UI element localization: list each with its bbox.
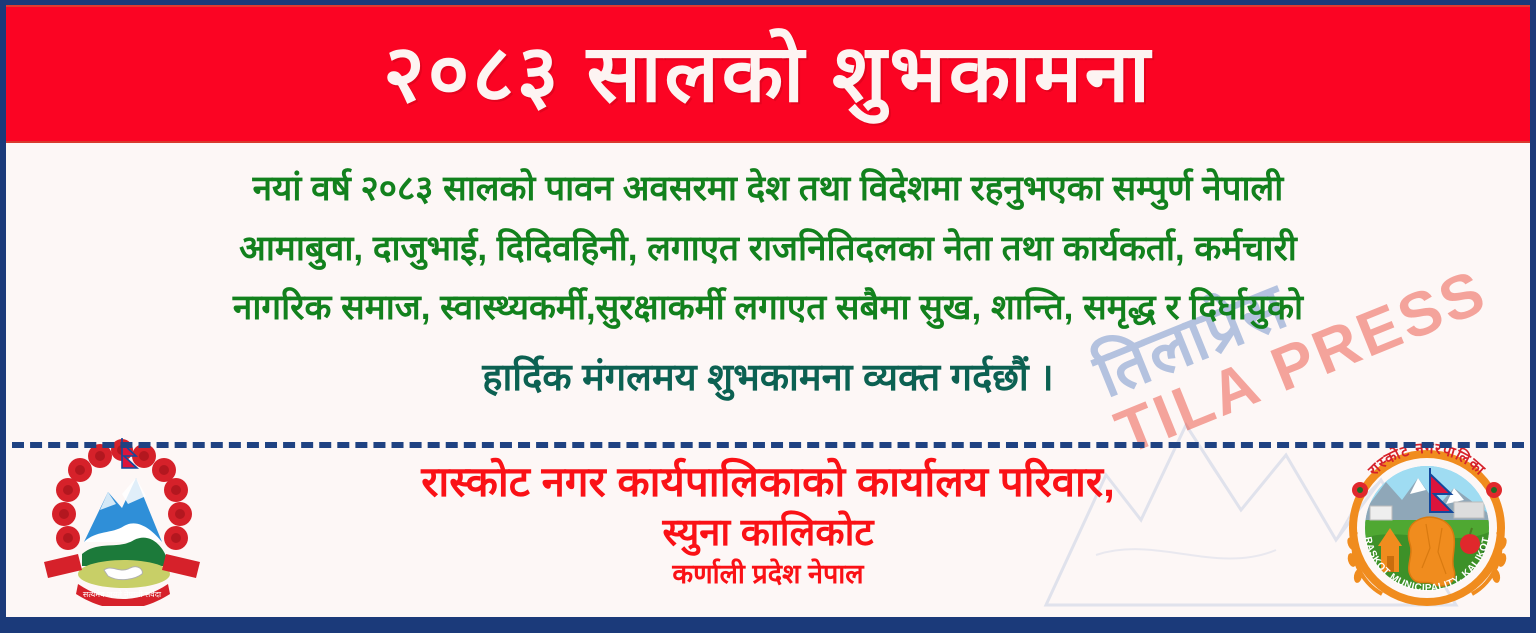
message-closing-line: हार्दिक मंगलमय शुभकामना व्यक्त गर्दछौं । xyxy=(6,346,1530,411)
section-divider xyxy=(12,442,1524,448)
message-line-1: नयां वर्ष २०८३ सालको पावन अवसरमा देश तथा… xyxy=(6,159,1530,219)
header-banner: २०८३ सालको शुभकामना xyxy=(6,5,1530,143)
nepal-national-emblem-icon: सत्यमेव जयते नेपाली सर्वदा xyxy=(38,434,206,606)
bottom-border-bar xyxy=(6,617,1530,633)
footer-text-block: रास्कोट नगर कार्यपालिकाको कार्यालय परिवा… xyxy=(6,451,1530,592)
greeting-poster: तिलाप्रेस TILA PRESS २०८३ सालको शुभकामना… xyxy=(0,0,1536,633)
organization-province: कर्णाली प्रदेश नेपाल xyxy=(6,558,1530,591)
message-line-2: आमाबुवा, दाजुभाई, दिदिवहिनी, लगाएत राजनि… xyxy=(6,219,1530,279)
footer: सत्यमेव जयते नेपाली सर्वदा रास्कोट नगर क… xyxy=(6,428,1530,614)
message-line-3: नागरिक समाज, स्वास्थ्यकर्मी,सुरक्षाकर्मी… xyxy=(6,278,1530,338)
emblem-caption: सत्यमेव जयते नेपाली सर्वदा xyxy=(83,589,162,599)
raskot-municipality-logo-icon: रास्कोट नगरपालिका RASKOT MUNICIPALITY, K… xyxy=(1334,428,1520,614)
organization-name: रास्कोट नगर कार्यपालिकाको कार्यालय परिवा… xyxy=(6,455,1530,509)
message-block: नयां वर्ष २०८३ सालको पावन अवसरमा देश तथा… xyxy=(6,143,1530,416)
page-title: २०८३ सालको शुभकामना xyxy=(383,34,1153,114)
organization-location: स्युना कालिकोट xyxy=(6,509,1530,558)
